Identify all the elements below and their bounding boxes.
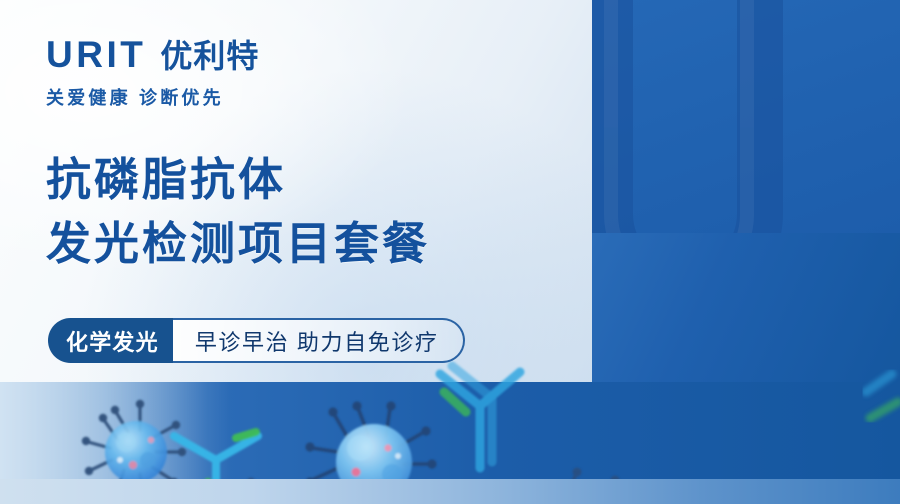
headline-line-1: 抗磷脂抗体 [46,148,430,212]
watermark-u-inner-highlight [604,0,754,233]
bottom-gradient-band [0,479,900,504]
logo-chinese-name: 优利特 [160,40,259,72]
page-title: 抗磷脂抗体 发光检测项目套餐 [46,148,430,276]
logo-tagline: 关爱健康 诊断优先 [46,84,259,110]
subtitle-pill: 化学发光 早诊早治 助力自免诊疗 [48,318,465,363]
headline-line-2: 发光检测项目套餐 [46,212,430,276]
bacteria-rods-right [866,374,898,418]
logo-wordmark: URIT [46,36,146,73]
brand-logo: URIT 优利特 关爱健康 诊断优先 [46,36,259,110]
promotional-banner: URIT 优利特 关爱健康 诊断优先 抗磷脂抗体 发光检测项目套餐 化学发光 早… [0,0,900,504]
right-panel-upper [592,0,900,233]
logo-row: URIT 优利特 [46,36,259,73]
subtitle-pill-tag: 化学发光 [48,318,173,363]
subtitle-pill-text: 早诊早治 助力自免诊疗 [173,318,465,363]
